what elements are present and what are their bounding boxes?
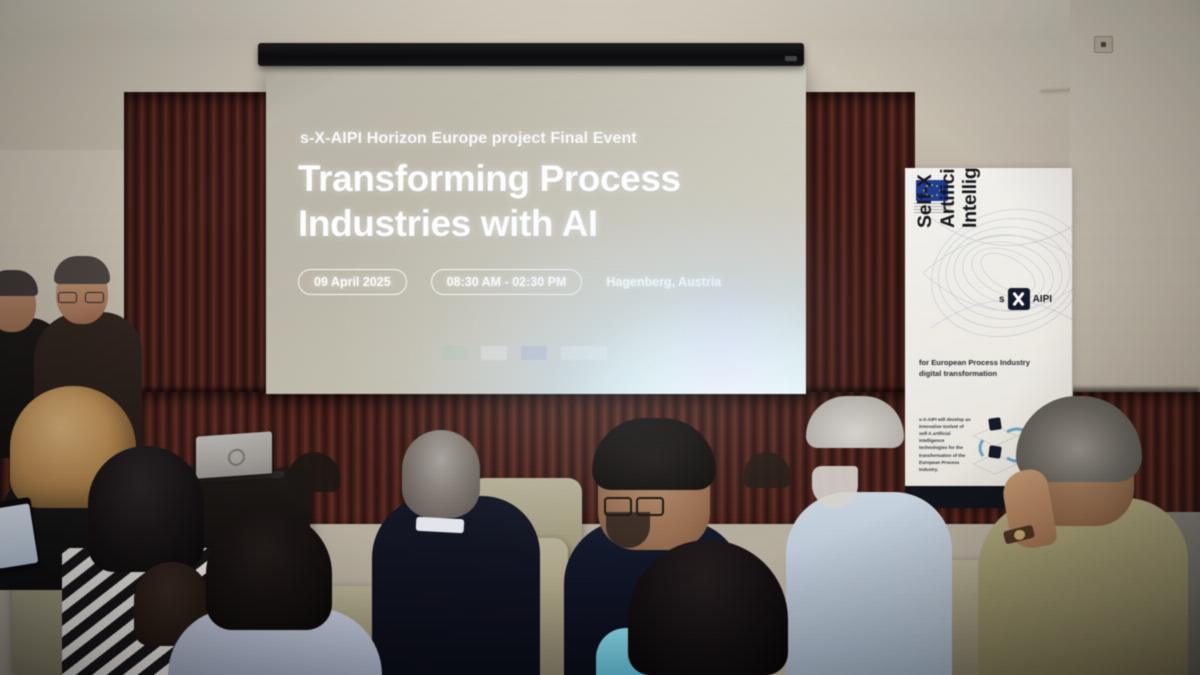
partner-logo-icon	[561, 346, 607, 360]
banner-body-text: s-X-AIPI will develop an innovative tool…	[919, 416, 971, 473]
sxaipi-logo: s AIPI	[999, 288, 1052, 310]
banner-title: Self-X Artificial Intelligence	[914, 168, 1073, 228]
partner-logo-icon	[481, 346, 507, 360]
person-light-blue-shirt-head	[206, 512, 332, 630]
slide-badge-row: 09 April 2025 08:30 AM - 02:30 PM Hagenb…	[298, 269, 721, 295]
man-white-beard-body	[786, 492, 952, 675]
person-striped-top-head	[88, 446, 204, 572]
eyeglasses-icon	[58, 292, 104, 301]
slide-title: Transforming Process Industries with AI	[298, 156, 681, 246]
banner-subtitle: for European Process Industry digital tr…	[919, 358, 1051, 379]
laptop	[196, 431, 272, 478]
logo-suffix: AIPI	[1033, 294, 1052, 305]
wood-panel-left	[124, 92, 279, 410]
slide-badge-time: 08:30 AM - 02:30 PM	[431, 269, 583, 295]
slide-badge-date: 09 April 2025	[298, 269, 407, 295]
ceiling	[0, 0, 1200, 40]
logo-prefix: s	[999, 294, 1005, 305]
wall-sensor-icon	[1094, 36, 1113, 53]
wood-panel-right	[790, 92, 915, 392]
slide-kicker: s-X-AIPI Horizon Europe project Final Ev…	[300, 130, 637, 148]
projection-screen: s-X-AIPI Horizon Europe project Final Ev…	[266, 64, 806, 394]
partner-logo-icon	[441, 346, 467, 360]
shirt-collar	[416, 517, 465, 533]
projector-screen-case	[258, 43, 804, 66]
conference-room-photo: s-X-AIPI Horizon Europe project Final Ev…	[0, 0, 1200, 675]
man-dark-suit-head	[402, 430, 480, 518]
slide-badge-location: Hagenberg, Austria	[606, 270, 721, 294]
logo-x-mark-icon	[1008, 288, 1030, 310]
slide-logo-strip	[441, 346, 607, 360]
eyeglasses-icon	[604, 497, 664, 512]
eu-flag-icon	[521, 346, 547, 360]
